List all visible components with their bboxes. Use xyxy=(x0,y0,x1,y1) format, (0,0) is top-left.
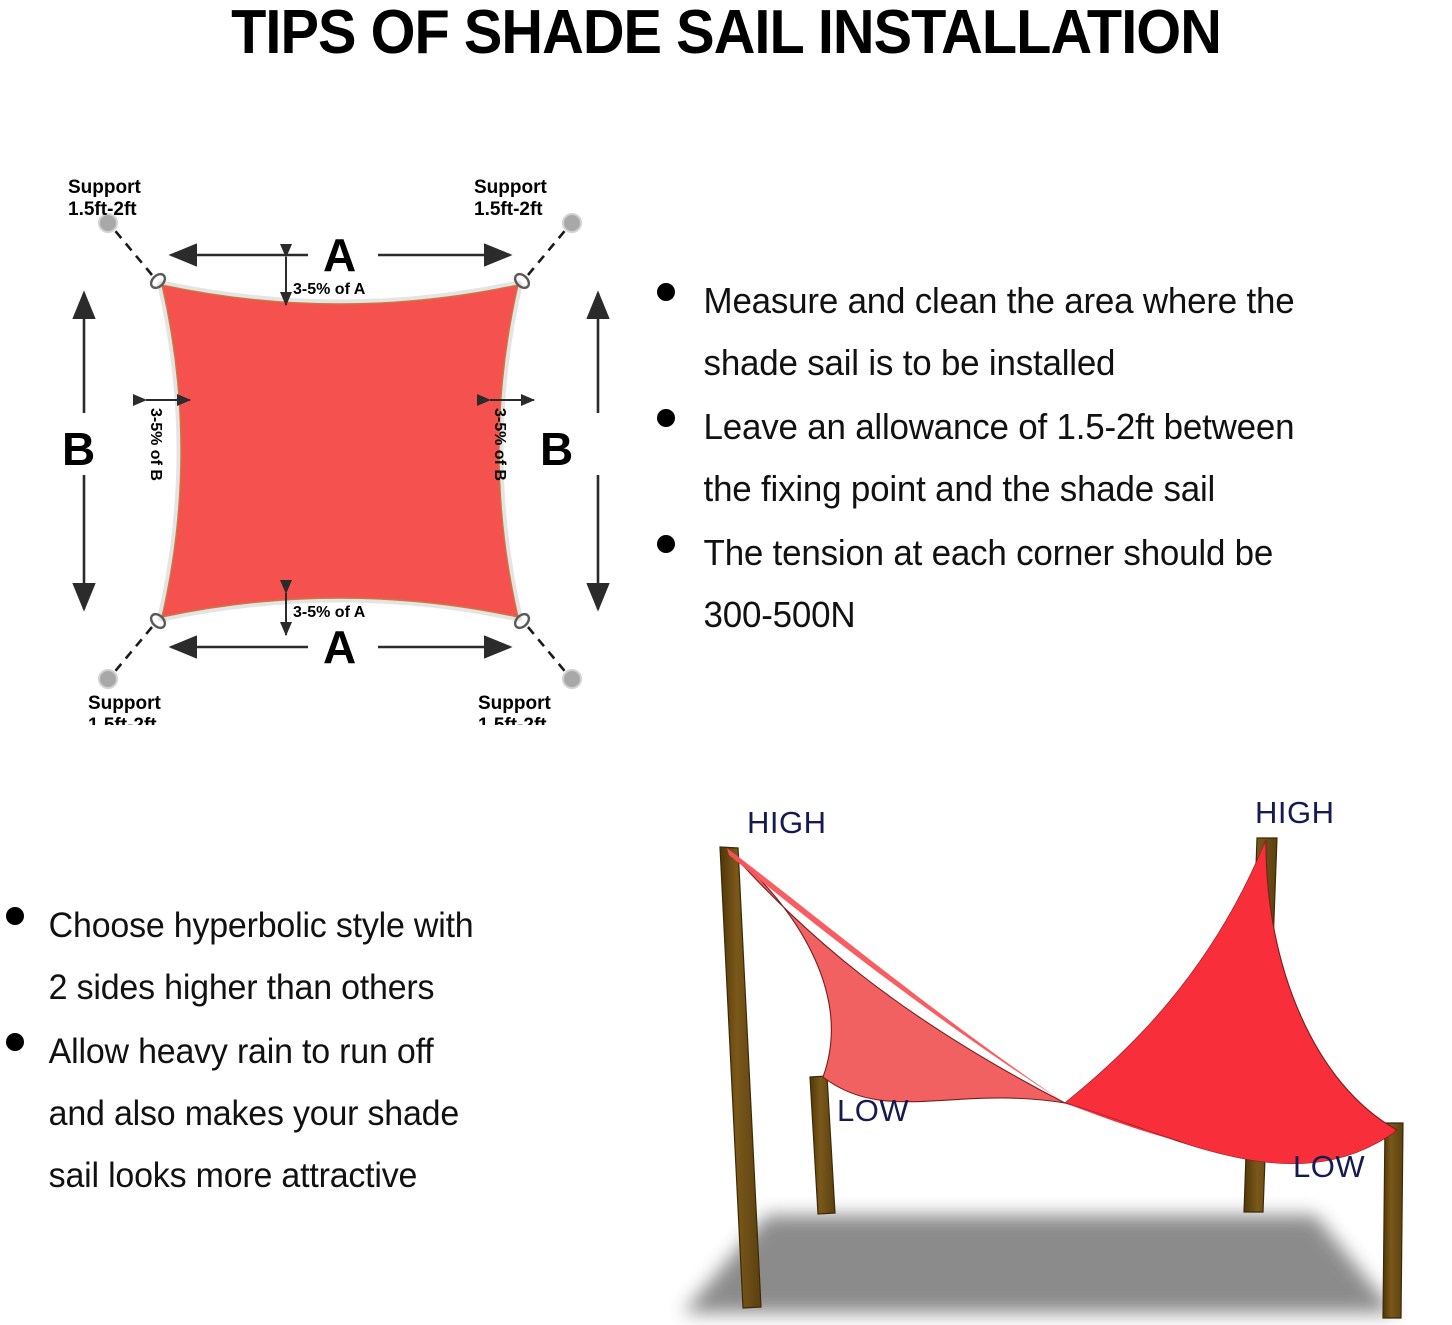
support-label-top-left-line2: 1.5ft-2ft xyxy=(68,199,137,220)
curve-label-top: 3-5% of A xyxy=(293,281,366,298)
support-label-bottom-left-line2: 1.5ft-2ft xyxy=(88,715,157,725)
support-line-bottom-right xyxy=(528,627,568,675)
tip-line: 300-500N xyxy=(657,584,1433,646)
square-shade-sail-diagram: Support 1.5ft-2ft Support 1.5ft-2ft Supp… xyxy=(40,165,640,725)
dimension-label-a-bottom: A xyxy=(323,621,356,673)
support-line-top-right xyxy=(528,227,568,275)
support-label-bottom-left-line1: Support xyxy=(88,693,161,714)
list-item: Allow heavy rain to run off and also mak… xyxy=(6,1021,626,1207)
support-label-top-left: Support 1.5ft-2ft xyxy=(68,177,141,220)
support-label-bottom-right: Support 1.5ft-2ft xyxy=(478,693,551,725)
support-label-top-right-line1: Support xyxy=(474,177,547,198)
tip-line: Choose hyperbolic style with xyxy=(6,895,607,957)
sail-panel-right xyxy=(1065,840,1397,1163)
dimension-b-right: B xyxy=(540,293,598,609)
label-low-front: LOW xyxy=(837,1093,909,1128)
curve-label-left: 3-5% of B xyxy=(147,408,164,481)
dimension-label-b-right: B xyxy=(540,423,573,475)
tip-line: Measure and clean the area where the xyxy=(657,270,1433,332)
list-item: The tension at each corner should be 300… xyxy=(657,522,1452,646)
tip-line: Leave an allowance of 1.5-2ft between xyxy=(657,396,1433,458)
support-line-bottom-left xyxy=(112,627,152,675)
sail-body xyxy=(162,285,518,617)
support-dot-top-right xyxy=(563,214,581,232)
support-label-top-right-line2: 1.5ft-2ft xyxy=(474,199,543,220)
page-title: TIPS OF SHADE SAIL INSTALLATION xyxy=(51,2,1401,64)
support-label-bottom-left: Support 1.5ft-2ft xyxy=(88,693,161,725)
tip-line: 2 sides higher than others xyxy=(6,957,607,1019)
support-label-top-right: Support 1.5ft-2ft xyxy=(474,177,547,220)
dimension-label-a-top: A xyxy=(323,229,356,281)
label-high-right: HIGH xyxy=(1255,795,1335,830)
hyperbolic-shade-sail-diagram: HIGH HIGH LOW LOW xyxy=(655,785,1452,1325)
pole-low-front xyxy=(810,1076,835,1214)
support-label-bottom-right-line1: Support xyxy=(478,693,551,714)
infographic-page: TIPS OF SHADE SAIL INSTALLATION xyxy=(0,0,1452,1325)
dimension-a-top: A xyxy=(171,229,510,281)
pole-low-right xyxy=(1383,1123,1403,1318)
label-low-right: LOW xyxy=(1293,1149,1365,1184)
support-line-top-left xyxy=(112,227,152,275)
dimension-b-left: B xyxy=(62,293,95,609)
list-item: Choose hyperbolic style with 2 sides hig… xyxy=(6,895,626,1019)
curve-measure-right: 3-5% of B xyxy=(490,400,534,481)
tip-line: sail looks more attractive xyxy=(6,1145,607,1207)
tip-line: and also makes your shade xyxy=(6,1083,607,1145)
sail-shape-group xyxy=(162,285,518,617)
support-label-bottom-right-line2: 1.5ft-2ft xyxy=(478,715,547,725)
sail-panel-left xyxy=(727,848,1065,1103)
curve-label-right: 3-5% of B xyxy=(491,408,508,481)
list-item: Leave an allowance of 1.5-2ft between th… xyxy=(657,396,1452,520)
label-high-left: HIGH xyxy=(747,805,827,840)
support-dot-bottom-left xyxy=(99,670,117,688)
dimension-label-b-left: B xyxy=(62,423,95,475)
installation-tips-list-left: Choose hyperbolic style with 2 sides hig… xyxy=(6,895,626,1209)
tip-line: Allow heavy rain to run off xyxy=(6,1021,607,1083)
ground-shadow xyxy=(683,1215,1395,1313)
support-label-top-left-line1: Support xyxy=(68,177,141,198)
tip-line: shade sail is to be installed xyxy=(657,332,1433,394)
dimension-a-bottom: A xyxy=(171,621,510,673)
installation-tips-list-right: Measure and clean the area where the sha… xyxy=(657,270,1452,648)
pole-high-left xyxy=(720,847,761,1308)
tip-line: The tension at each corner should be xyxy=(657,522,1433,584)
curve-label-bottom: 3-5% of A xyxy=(293,604,366,621)
tip-line: the fixing point and the shade sail xyxy=(657,458,1433,520)
list-item: Measure and clean the area where the sha… xyxy=(657,270,1452,394)
support-dot-bottom-right xyxy=(563,670,581,688)
